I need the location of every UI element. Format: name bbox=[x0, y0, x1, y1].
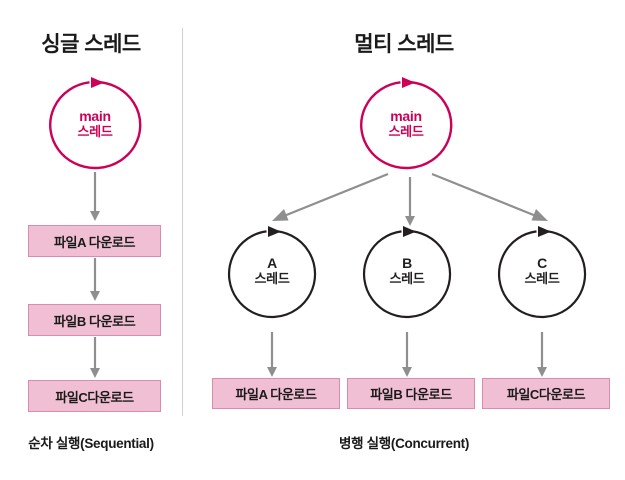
arrow-thread-a-to-task bbox=[265, 332, 279, 378]
right-branch-arrows bbox=[240, 168, 580, 230]
thread-a-task-box[interactable]: 파일A 다운로드 bbox=[212, 378, 340, 409]
left-step-label-1: 파일A 다운로드 bbox=[54, 232, 135, 251]
thread-b-task-box[interactable]: 파일B 다운로드 bbox=[347, 378, 475, 409]
diagram-canvas: 싱글 스레드 main 스레드 파일A 다운로드 파일B 다운로드 bbox=[0, 0, 625, 480]
thread-c-task-box[interactable]: 파일C다운로드 bbox=[482, 378, 610, 409]
left-arrow-step1-to-step2 bbox=[88, 258, 102, 302]
left-arrow-main-to-step1 bbox=[88, 172, 102, 222]
left-step-label-3: 파일C다운로드 bbox=[55, 387, 133, 406]
panel-divider bbox=[182, 28, 183, 416]
left-step-label-2: 파일B 다운로드 bbox=[54, 311, 136, 330]
left-panel-caption: 순차 실행(Sequential) bbox=[0, 432, 182, 452]
thread-c-task-label: 파일C다운로드 bbox=[507, 384, 585, 403]
thread-circle-a: A 스레드 bbox=[226, 228, 318, 320]
thread-a-task-label: 파일A 다운로드 bbox=[235, 384, 316, 403]
left-step-box-3[interactable]: 파일C다운로드 bbox=[28, 380, 161, 412]
left-step-box-1[interactable]: 파일A 다운로드 bbox=[28, 225, 161, 257]
right-main-thread-circle: main 스레드 bbox=[356, 77, 456, 171]
left-panel-title: 싱글 스레드 bbox=[0, 28, 182, 58]
right-panel-title: 멀티 스레드 bbox=[183, 28, 625, 58]
left-main-thread-circle: main 스레드 bbox=[45, 77, 145, 171]
right-panel-caption: 병행 실행(Concurrent) bbox=[183, 432, 625, 452]
left-step-box-2[interactable]: 파일B 다운로드 bbox=[28, 304, 161, 336]
thread-b-task-label: 파일B 다운로드 bbox=[370, 384, 452, 403]
thread-circle-c: C 스레드 bbox=[496, 228, 588, 320]
left-arrow-step2-to-step3 bbox=[88, 337, 102, 379]
thread-circle-b: B 스레드 bbox=[361, 228, 453, 320]
arrow-thread-c-to-task bbox=[535, 332, 549, 378]
arrow-thread-b-to-task bbox=[400, 332, 414, 378]
